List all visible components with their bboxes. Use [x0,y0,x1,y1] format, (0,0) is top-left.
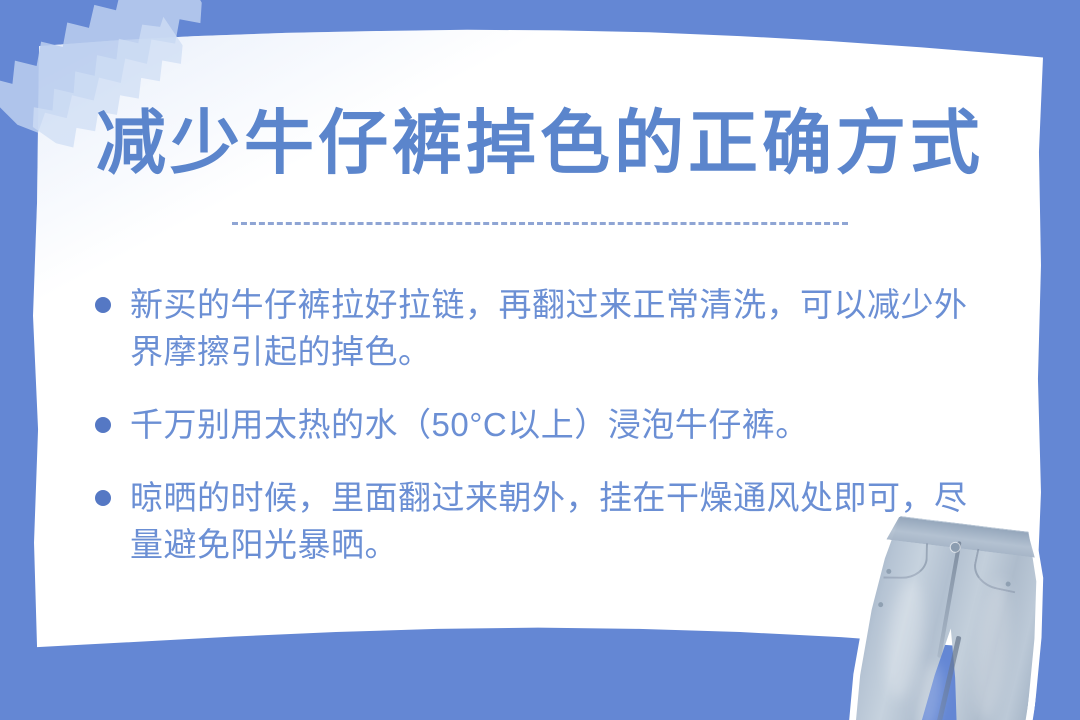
dashed-divider [232,222,848,225]
bullet-dot-icon [95,297,111,313]
list-item-text: 千万别用太热的水（50°C以上）浸泡牛仔裤。 [130,401,992,448]
list-item-text: 新买的牛仔裤拉好拉链，再翻过来正常清洗，可以减少外界摩擦引起的掉色。 [130,281,992,375]
jeans-illustration [848,516,1080,720]
poster-root: 减少牛仔裤掉色的正确方式 新买的牛仔裤拉好拉链，再翻过来正常清洗，可以减少外界摩… [0,0,1080,720]
list-item: 千万别用太热的水（50°C以上）浸泡牛仔裤。 [92,401,992,448]
jeans-photo [848,516,1080,720]
bullet-dot-icon [95,417,111,433]
list-item: 新买的牛仔裤拉好拉链，再翻过来正常清洗，可以减少外界摩擦引起的掉色。 [92,281,992,375]
page-title: 减少牛仔裤掉色的正确方式 [0,104,1080,182]
bullet-dot-icon [95,490,111,506]
